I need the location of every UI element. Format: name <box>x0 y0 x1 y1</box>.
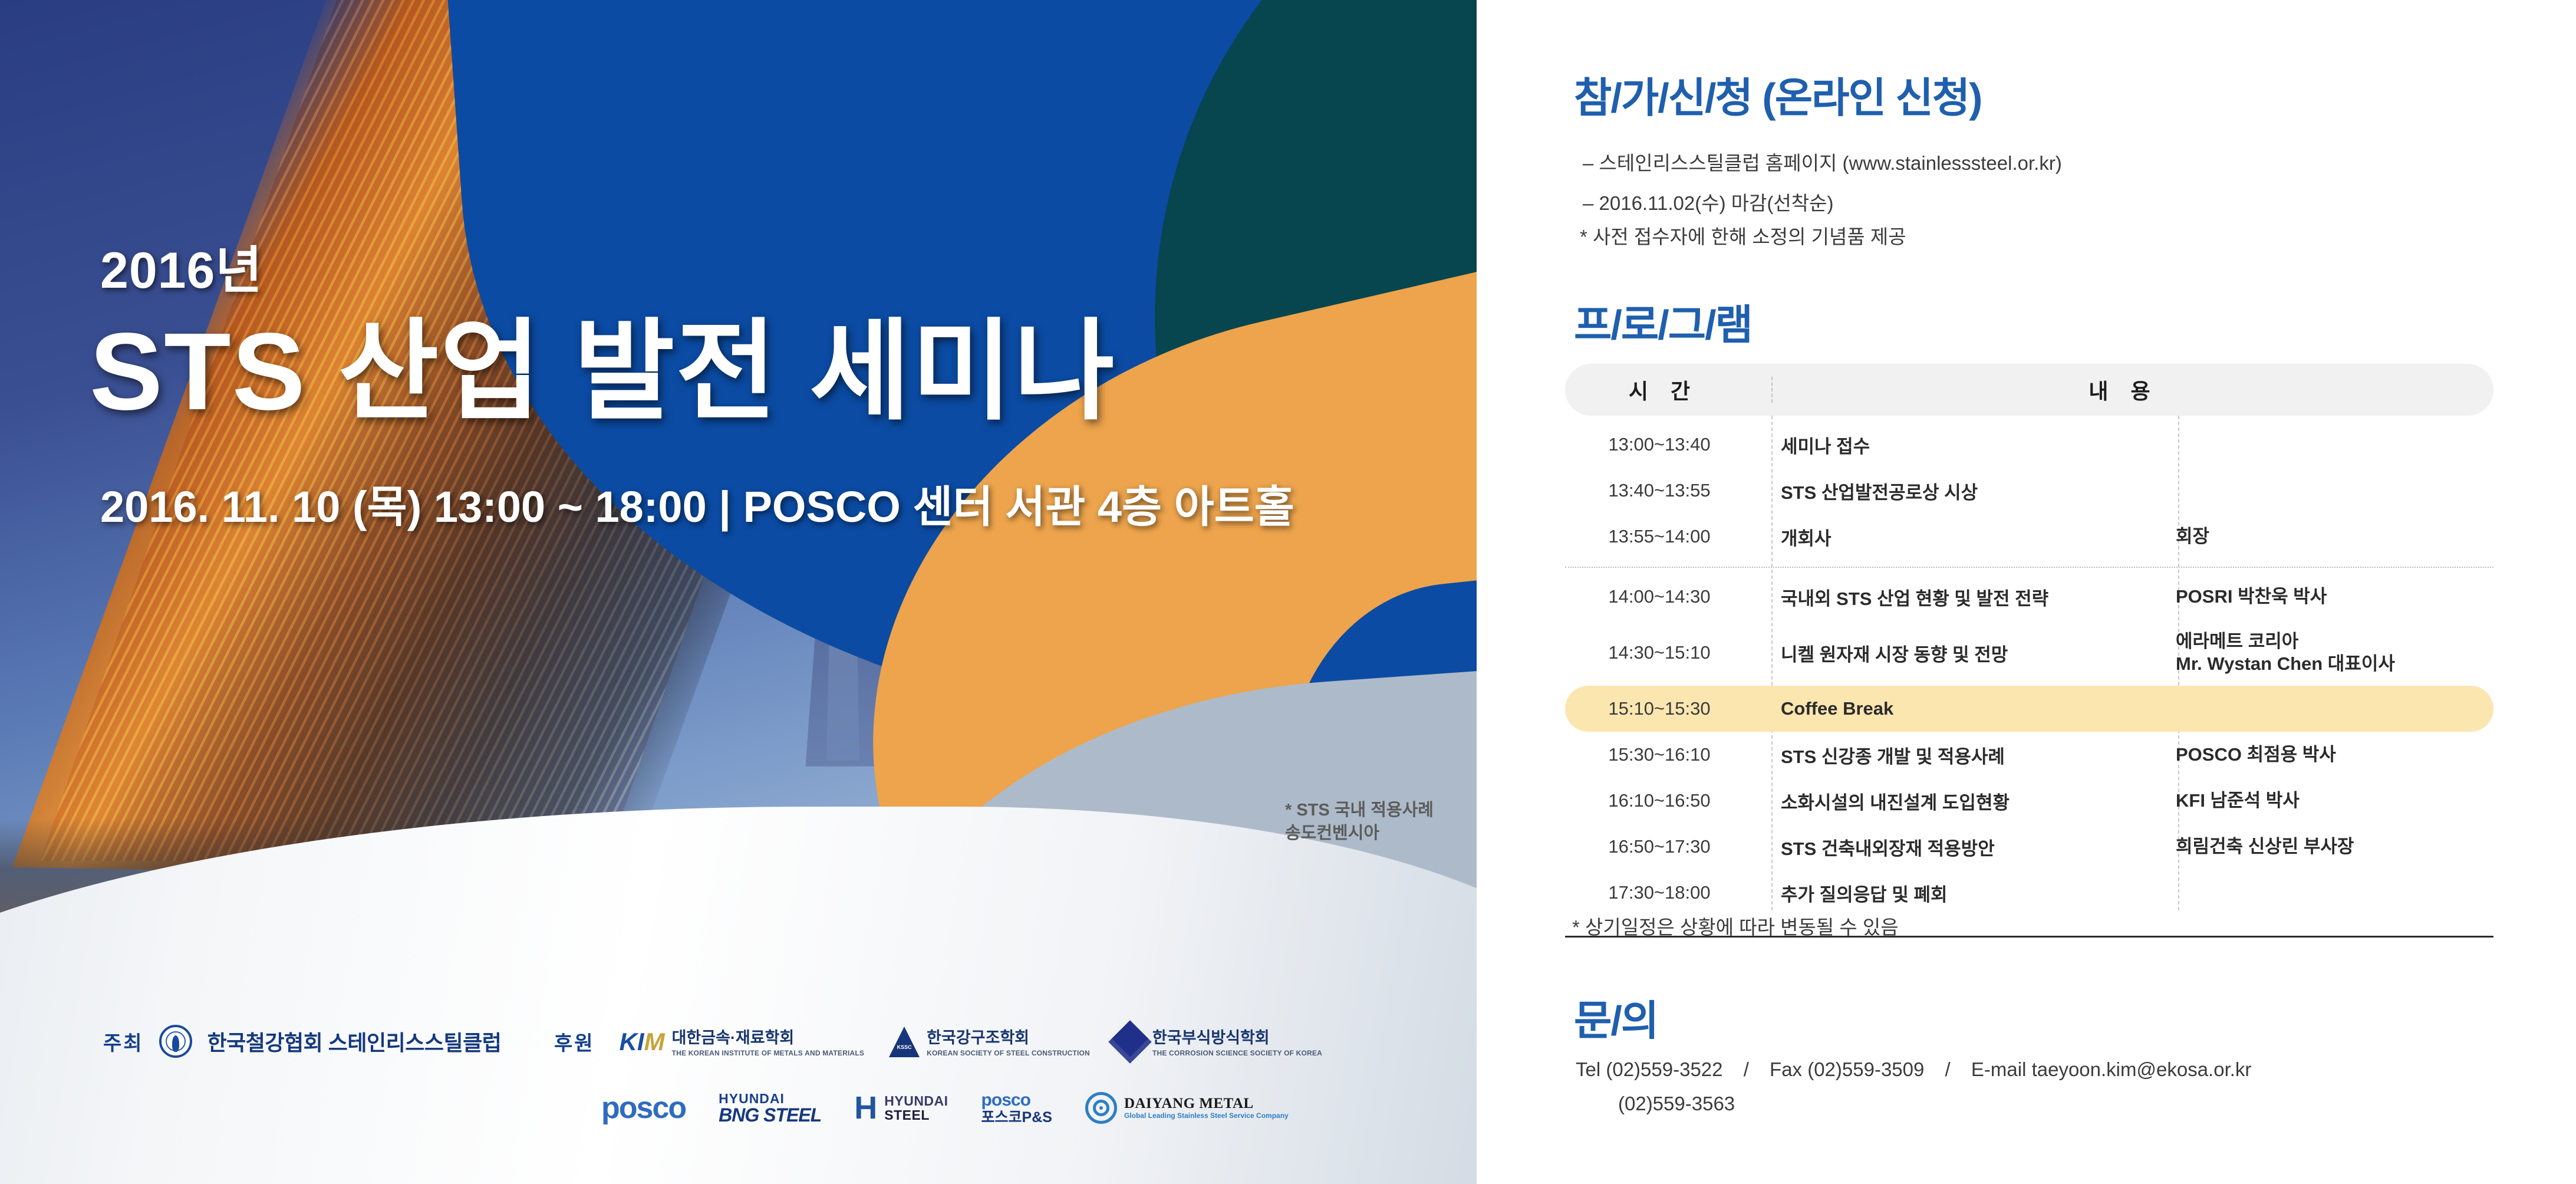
row-speaker: POSRI 박찬욱 박사 <box>2160 586 2493 608</box>
contact-line: Tel (02)559-3522 / Fax (02)559-3509 / E-… <box>1576 1058 2251 1081</box>
kssc-name-en: Korean Society of Steel Construction <box>927 1049 1090 1057</box>
row-time: 13:55~14:00 <box>1565 526 1754 547</box>
email-label: E-mail <box>1971 1058 2027 1080</box>
kim-name-en: The Korean Institute of Metals and Mater… <box>672 1049 865 1057</box>
row-speaker: 회장 <box>2160 525 2493 548</box>
row-topic: STS 산업발전공로상 시상 <box>1754 478 2160 504</box>
bng-steel-word: BNG STEEL <box>719 1106 821 1124</box>
row-time: 14:30~15:10 <box>1565 642 1754 663</box>
supporter-row: 후원 KIM 대한금속·재료학회 The Korean Institute of… <box>554 1025 1322 1058</box>
application-heading: 참/가/신/청 (온라인 신청) <box>1574 65 1981 124</box>
support-label: 후원 <box>554 1027 595 1056</box>
table-row: 17:30~18:00추가 질의응답 및 폐회 <box>1565 870 2493 916</box>
sponsor-strip: 주최 한국철강협회 스테인리스스틸클럽 후원 KIM 대한금속·재료학회 The… <box>0 1007 1477 1184</box>
sponsor-logo-cssk: 한국부식방식학회 The Corrosion Science Society o… <box>1115 1025 1322 1058</box>
row-topic: STS 건축내외장재 적용방안 <box>1754 834 2160 860</box>
row-time: 17:30~18:00 <box>1565 882 1754 903</box>
kim-mark-icon: KIM <box>620 1028 665 1056</box>
corporate-sponsor-row: posco HYUNDAI BNG STEEL H HYUNDAI STEEL … <box>601 1090 1289 1126</box>
contact-separator-1: / <box>1744 1058 1749 1080</box>
contact-separator-2: / <box>1945 1058 1951 1080</box>
table-row: 16:50~17:30STS 건축내외장재 적용방안희림건축 신상린 부사장 <box>1565 824 2493 870</box>
cssk-name-en: The Corrosion Science Society of Korea <box>1152 1049 1322 1057</box>
sponsor-logo-kssc: 한국강구조학회 Korean Society of Steel Construc… <box>889 1025 1090 1058</box>
kosa-seal-icon <box>159 1025 192 1058</box>
poster-datetime-venue: 2016. 11. 10 (목) 13:00 ~ 18:00 | POSCO 센… <box>100 472 1294 535</box>
seminar-poster: 2016년 STS 산업 발전 세미나 2016. 11. 10 (목) 13:… <box>0 0 2576 1184</box>
row-topic: 니켈 원자재 시장 동향 및 전망 <box>1754 640 2160 666</box>
column-header-time: 시 간 <box>1565 374 1754 405</box>
host-label: 주최 <box>103 1027 144 1056</box>
hyundai-steel-sub: STEEL <box>884 1108 948 1122</box>
row-topic: 추가 질의응답 및 폐회 <box>1754 880 2160 906</box>
cssk-diamond-icon <box>1108 1020 1152 1064</box>
application-item-deadline: – 2016.11.02(수) 마감(선착순) <box>1583 188 2062 216</box>
table-row: 15:10~15:30Coffee Break <box>1565 686 2493 732</box>
hyundai-steel-word: HYUNDAI <box>884 1094 948 1108</box>
row-speaker: 희림건축 신상린 부사장 <box>2160 836 2493 858</box>
posco-pns-word: posco <box>981 1090 1052 1110</box>
fax-label: Fax <box>1770 1058 1802 1080</box>
row-time: 13:00~13:40 <box>1565 434 1754 455</box>
email-value[interactable]: taeyoon.kim@ekosa.or.kr <box>2032 1058 2252 1080</box>
tel-value: (02)559-3522 <box>1606 1058 1722 1080</box>
row-topic: 소화시설의 내진설계 도입현황 <box>1754 788 2160 814</box>
application-note: * 사전 접수자에 한해 소정의 기념품 제공 <box>1580 221 1906 249</box>
kim-name-ko: 대한금속·재료학회 <box>672 1029 795 1047</box>
table-row: 15:30~16:10STS 신강종 개발 및 적용사례POSCO 최점용 박사 <box>1565 732 2493 778</box>
row-speaker: 에라메트 코리아Mr. Wystan Chen 대표이사 <box>2160 630 2493 675</box>
host-organization-name: 한국철강협회 스테인리스스틸클럽 <box>207 1026 502 1057</box>
row-topic: STS 신강종 개발 및 적용사례 <box>1754 742 2160 768</box>
kssc-triangle-icon <box>889 1027 920 1057</box>
info-panel: 참/가/신/청 (온라인 신청) – 스테인리스스틸클럽 홈페이지 (www.s… <box>1477 0 2576 1184</box>
row-speaker-line1: 에라메트 코리아 <box>2176 630 2493 653</box>
daiyang-target-icon <box>1085 1092 1117 1124</box>
table-row: 13:40~13:55STS 산업발전공로상 시상 <box>1565 468 2493 514</box>
sponsor-logo-daiyang-metal: DAIYANG METAL Global Leading Stainless S… <box>1085 1092 1289 1124</box>
program-table-body: 13:00~13:40세미나 접수13:40~13:55STS 산업발전공로상 … <box>1565 416 2493 938</box>
table-row: 13:00~13:40세미나 접수 <box>1565 422 2493 468</box>
contact-heading: 문/의 <box>1574 988 1658 1047</box>
row-topic: Coffee Break <box>1754 698 2160 719</box>
kssc-name-ko: 한국강구조학회 <box>927 1029 1029 1047</box>
sponsor-logo-posco: posco <box>601 1090 686 1126</box>
row-topic: 세미나 접수 <box>1754 432 2160 458</box>
table-row: 16:10~16:50소화시설의 내진설계 도입현황KFI 남준석 박사 <box>1565 778 2493 824</box>
row-speaker-line2: Mr. Wystan Chen 대표이사 <box>2176 653 2493 675</box>
tel-secondary: (02)559-3563 <box>1618 1093 1735 1115</box>
table-row: 14:00~14:30국내외 STS 산업 현황 및 발전 전략POSRI 박찬… <box>1565 574 2493 620</box>
poster-title: STS 산업 발전 세미나 <box>90 282 1116 441</box>
row-time: 15:10~15:30 <box>1565 698 1754 719</box>
poster-visual-panel: 2016년 STS 산업 발전 세미나 2016. 11. 10 (목) 13:… <box>0 0 1477 1184</box>
application-list: – 스테인리스스틸클럽 홈페이지 (www.stainlesssteel.or.… <box>1583 147 2062 228</box>
photo-caption-line1: * STS 국내 적용사례 <box>1285 799 1468 822</box>
sponsor-logo-hyundai-steel: H HYUNDAI STEEL <box>854 1090 948 1126</box>
header-divider <box>1771 377 1773 403</box>
daiyang-tagline: Global Leading Stainless Steel Service C… <box>1124 1112 1289 1120</box>
bng-hyundai-word: HYUNDAI <box>719 1092 821 1106</box>
sponsor-logo-posco-pns: posco 포스코P&S <box>981 1090 1052 1126</box>
photo-caption-line2: 송도컨벤시아 <box>1285 822 1468 845</box>
host-row: 주최 한국철강협회 스테인리스스틸클럽 <box>103 1025 501 1058</box>
row-speaker: POSCO 최점용 박사 <box>2160 744 2493 766</box>
cssk-name-ko: 한국부식방식학회 <box>1152 1029 1270 1047</box>
row-time: 14:00~14:30 <box>1565 586 1754 607</box>
program-table: 시 간 내 용 13:00~13:40세미나 접수13:40~13:55STS … <box>1565 364 2493 938</box>
schedule-note: * 상기일정은 상황에 따라 변동될 수 있음 <box>1572 912 1899 940</box>
sponsor-logo-kim: KIM 대한금속·재료학회 The Korean Institute of Me… <box>620 1025 865 1058</box>
program-table-header: 시 간 내 용 <box>1565 364 2493 416</box>
row-time: 16:10~16:50 <box>1565 790 1754 811</box>
hyundai-steel-h-icon: H <box>854 1090 877 1126</box>
table-group-separator <box>1565 567 2493 568</box>
photo-caption: * STS 국내 적용사례 송도컨벤시아 <box>1285 799 1468 845</box>
table-row: 14:30~15:10니켈 원자재 시장 동향 및 전망에라메트 코리아Mr. … <box>1565 620 2493 686</box>
row-time: 13:40~13:55 <box>1565 480 1754 501</box>
row-time: 16:50~17:30 <box>1565 836 1754 857</box>
daiyang-name: DAIYANG METAL <box>1124 1096 1289 1113</box>
row-speaker: KFI 남준석 박사 <box>2160 790 2493 812</box>
fax-value: (02)559-3509 <box>1807 1058 1924 1080</box>
table-row: 13:55~14:00개회사회장 <box>1565 514 2493 560</box>
row-topic: 개회사 <box>1754 524 2160 550</box>
program-heading: 프/로/그/램 <box>1574 292 1752 351</box>
tel-label: Tel <box>1576 1058 1600 1080</box>
sponsor-logo-bng-steel: HYUNDAI BNG STEEL <box>719 1092 821 1124</box>
posco-pns-ko: 포스코P&S <box>981 1110 1052 1126</box>
application-item-homepage: – 스테인리스스틸클럽 홈페이지 (www.stainlesssteel.or.… <box>1583 147 2062 176</box>
row-time: 15:30~16:10 <box>1565 744 1754 765</box>
row-topic: 국내외 STS 산업 현황 및 발전 전략 <box>1754 584 2160 610</box>
column-header-topic: 내 용 <box>1754 374 2493 405</box>
